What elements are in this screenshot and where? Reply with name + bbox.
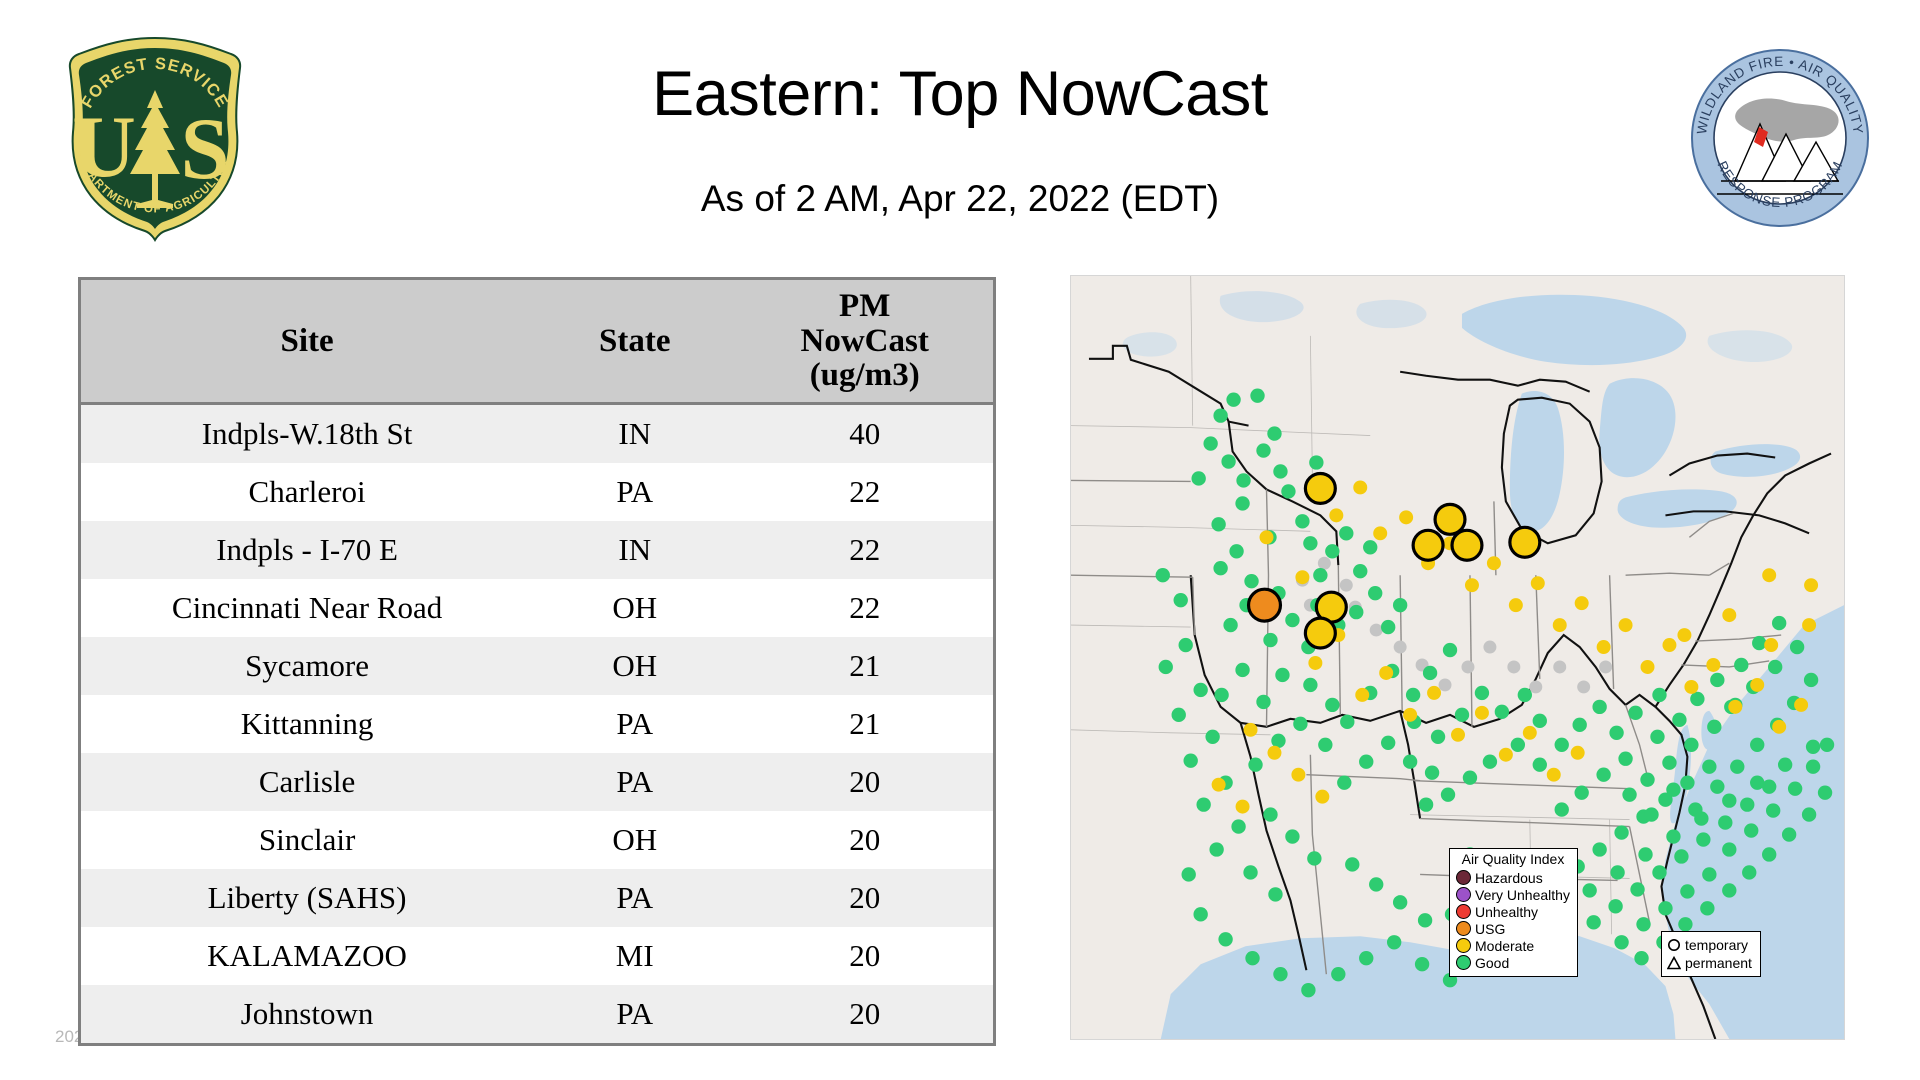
top-nowcast-marker[interactable] (1510, 527, 1540, 557)
good-monitor-dot (1184, 754, 1198, 768)
moderate-monitor-dot (1597, 640, 1611, 654)
good-monitor-dot (1455, 708, 1469, 722)
good-monitor-dot (1495, 705, 1509, 719)
good-monitor-dot (1650, 730, 1664, 744)
cell-state: PA (533, 869, 736, 927)
good-monitor-dot (1694, 811, 1708, 825)
good-monitor-dot (1301, 983, 1315, 997)
moderate-monitor-dot (1722, 608, 1736, 622)
table-row: Cincinnati Near RoadOH22 (81, 579, 993, 637)
good-monitor-dot (1752, 636, 1766, 650)
good-monitor-dot (1744, 823, 1758, 837)
moderate-monitor-dot (1308, 656, 1322, 670)
good-monitor-dot (1707, 720, 1721, 734)
good-monitor-dot (1818, 785, 1832, 799)
cell-pm-nowcast: 22 (736, 463, 993, 521)
good-monitor-dot (1678, 917, 1692, 931)
cell-state: OH (533, 811, 736, 869)
top-nowcast-marker[interactable] (1435, 504, 1465, 534)
good-monitor-dot (1582, 883, 1596, 897)
monitor-type-legend: temporary permanent (1661, 931, 1761, 977)
aqi-legend-row: USG (1456, 920, 1570, 937)
pm-header-line-1: PM (839, 288, 890, 324)
aqi-legend-row: Very Unhealthy (1456, 886, 1570, 903)
good-monitor-dot (1303, 678, 1317, 692)
cell-pm-nowcast: 20 (736, 753, 993, 811)
moderate-monitor-dot (1571, 746, 1585, 760)
wfaqrp-logo: WILDLAND FIRE • AIR QUALITY RESPONSE PRO… (1690, 48, 1870, 228)
good-monitor-dot (1762, 847, 1776, 861)
good-monitor-dot (1483, 755, 1497, 769)
good-monitor-dot (1722, 842, 1736, 856)
good-monitor-dot (1820, 738, 1834, 752)
aqi-legend-row: Moderate (1456, 937, 1570, 954)
good-monitor-dot (1441, 787, 1455, 801)
offline-monitor-dot (1461, 660, 1474, 673)
good-monitor-dot (1702, 760, 1716, 774)
good-monitor-dot (1275, 668, 1289, 682)
good-monitor-dot (1263, 633, 1277, 647)
cell-pm-nowcast: 20 (736, 927, 993, 985)
good-monitor-dot (1213, 561, 1227, 575)
good-monitor-dot (1196, 797, 1210, 811)
page-subtitle: As of 2 AM, Apr 22, 2022 (EDT) (360, 178, 1560, 220)
good-monitor-dot (1772, 616, 1786, 630)
good-monitor-dot (1425, 766, 1439, 780)
good-monitor-dot (1209, 842, 1223, 856)
aqi-swatch-icon (1456, 887, 1471, 902)
moderate-monitor-dot (1677, 628, 1691, 642)
good-monitor-dot (1263, 807, 1277, 821)
cell-state: IN (533, 404, 736, 464)
table-row: SycamoreOH21 (81, 637, 993, 695)
good-monitor-dot (1662, 756, 1676, 770)
cell-pm-nowcast: 21 (736, 637, 993, 695)
good-monitor-dot (1722, 883, 1736, 897)
good-monitor-dot (1443, 643, 1457, 657)
page-title: Eastern: Top NowCast (360, 58, 1560, 130)
good-monitor-dot (1179, 638, 1193, 652)
good-monitor-dot (1339, 526, 1353, 540)
good-monitor-dot (1368, 586, 1382, 600)
cell-site: Kittanning (81, 695, 533, 753)
good-monitor-dot (1702, 867, 1716, 881)
column-header-pm-nowcast: PM NowCast (ug/m3) (736, 280, 993, 404)
moderate-monitor-dot (1212, 778, 1226, 792)
moderate-monitor-dot (1236, 800, 1250, 814)
good-monitor-dot (1182, 867, 1196, 881)
cell-pm-nowcast: 40 (736, 404, 993, 464)
good-monitor-dot (1806, 740, 1820, 754)
moderate-monitor-dot (1260, 530, 1274, 544)
good-monitor-dot (1628, 706, 1642, 720)
top-nowcast-marker[interactable] (1249, 589, 1281, 621)
good-monitor-dot (1193, 907, 1207, 921)
good-monitor-dot (1614, 935, 1628, 949)
cell-state: OH (533, 637, 736, 695)
good-monitor-dot (1778, 758, 1792, 772)
good-monitor-dot (1406, 688, 1420, 702)
moderate-monitor-dot (1451, 728, 1465, 742)
table-row: Indpls-W.18th StIN40 (81, 404, 993, 464)
pm-header-line-2: NowCast (801, 323, 929, 359)
aqi-legend: Air Quality Index HazardousVery Unhealth… (1449, 848, 1578, 977)
moderate-monitor-dot (1329, 508, 1343, 522)
good-monitor-dot (1159, 660, 1173, 674)
good-monitor-dot (1174, 593, 1188, 607)
aqi-legend-label: Hazardous (1475, 871, 1543, 885)
good-monitor-dot (1722, 793, 1736, 807)
column-header-site: Site (81, 280, 533, 404)
good-monitor-dot (1236, 473, 1250, 487)
moderate-monitor-dot (1465, 578, 1479, 592)
good-monitor-dot (1273, 464, 1287, 478)
table-row: KALAMAZOOMI20 (81, 927, 993, 985)
cell-state: PA (533, 985, 736, 1043)
good-monitor-dot (1680, 884, 1694, 898)
good-monitor-dot (1403, 755, 1417, 769)
legend-label-temporary: temporary (1685, 938, 1748, 952)
nowcast-table: Site State PM NowCast (ug/m3) Indpls-W.1… (81, 280, 993, 1043)
good-monitor-dot (1618, 752, 1632, 766)
moderate-monitor-dot (1728, 700, 1742, 714)
cell-site: KALAMAZOO (81, 927, 533, 985)
good-monitor-dot (1295, 514, 1309, 528)
moderate-monitor-dot (1353, 480, 1367, 494)
moderate-monitor-dot (1244, 723, 1258, 737)
cell-site: Charleroi (81, 463, 533, 521)
good-monitor-dot (1640, 773, 1654, 787)
good-monitor-dot (1634, 951, 1648, 965)
good-monitor-dot (1387, 935, 1401, 949)
good-monitor-dot (1211, 517, 1225, 531)
good-monitor-dot (1393, 895, 1407, 909)
good-monitor-dot (1349, 605, 1363, 619)
cell-site: Sinclair (81, 811, 533, 869)
cell-state: PA (533, 463, 736, 521)
good-monitor-dot (1193, 683, 1207, 697)
table-row: CharleroiPA22 (81, 463, 993, 521)
good-monitor-dot (1622, 787, 1636, 801)
temporary-circle-icon (1667, 937, 1681, 953)
good-monitor-dot (1231, 819, 1245, 833)
good-monitor-dot (1475, 686, 1489, 700)
good-monitor-dot (1273, 967, 1287, 981)
good-monitor-dot (1533, 758, 1547, 772)
good-monitor-dot (1666, 782, 1680, 796)
table-row: SinclairOH20 (81, 811, 993, 869)
good-monitor-dot (1750, 775, 1764, 789)
good-monitor-dot (1742, 865, 1756, 879)
offline-monitor-dot (1553, 660, 1566, 673)
good-monitor-dot (1256, 695, 1270, 709)
good-monitor-dot (1203, 436, 1217, 450)
offline-monitor-dot (1483, 641, 1496, 654)
good-monitor-dot (1325, 544, 1339, 558)
moderate-monitor-dot (1499, 748, 1513, 762)
good-monitor-dot (1172, 708, 1186, 722)
good-monitor-dot (1573, 718, 1587, 732)
good-monitor-dot (1592, 700, 1606, 714)
moderate-monitor-dot (1750, 678, 1764, 692)
good-monitor-dot (1248, 758, 1262, 772)
good-monitor-dot (1419, 797, 1433, 811)
aqi-legend-row: Good (1456, 954, 1570, 971)
good-monitor-dot (1243, 865, 1257, 879)
usfs-letter-s: S (181, 101, 230, 198)
cell-state: MI (533, 927, 736, 985)
good-monitor-dot (1156, 568, 1170, 582)
moderate-monitor-dot (1553, 618, 1567, 632)
good-monitor-dot (1205, 730, 1219, 744)
aqi-swatch-icon (1456, 921, 1471, 936)
good-monitor-dot (1415, 957, 1429, 971)
offline-monitor-dot (1599, 660, 1612, 673)
offline-monitor-dot (1370, 624, 1383, 637)
offline-monitor-dot (1439, 678, 1452, 691)
good-monitor-dot (1614, 825, 1628, 839)
good-monitor-dot (1630, 882, 1644, 896)
cell-state: IN (533, 521, 736, 579)
good-monitor-dot (1463, 771, 1477, 785)
moderate-monitor-dot (1399, 510, 1413, 524)
offline-monitor-dot (1394, 641, 1407, 654)
nowcast-table-container: Site State PM NowCast (ug/m3) Indpls-W.1… (78, 277, 996, 1046)
good-monitor-dot (1307, 851, 1321, 865)
good-monitor-dot (1652, 865, 1666, 879)
good-monitor-dot (1644, 807, 1658, 821)
moderate-monitor-dot (1403, 708, 1417, 722)
good-monitor-dot (1690, 692, 1704, 706)
good-monitor-dot (1652, 688, 1666, 702)
good-monitor-dot (1730, 760, 1744, 774)
good-monitor-dot (1359, 755, 1373, 769)
cell-site: Johnstown (81, 985, 533, 1043)
good-monitor-dot (1574, 785, 1588, 799)
good-monitor-dot (1235, 496, 1249, 510)
column-header-state: State (533, 280, 736, 404)
cell-site: Cincinnati Near Road (81, 579, 533, 637)
moderate-monitor-dot (1379, 666, 1393, 680)
good-monitor-dot (1313, 568, 1327, 582)
good-monitor-dot (1610, 865, 1624, 879)
moderate-monitor-dot (1427, 686, 1441, 700)
aqi-legend-row: Hazardous (1456, 869, 1570, 886)
aqi-swatch-icon (1456, 904, 1471, 919)
legend-row-permanent: permanent (1667, 954, 1752, 972)
moderate-monitor-dot (1641, 660, 1655, 674)
good-monitor-dot (1363, 540, 1377, 554)
top-nowcast-marker[interactable] (1452, 530, 1482, 560)
good-monitor-dot (1672, 713, 1686, 727)
good-monitor-dot (1191, 471, 1205, 485)
usfs-shield-logo: FOREST SERVICE DEPARTMENT OF AGRICULTURE… (55, 28, 255, 243)
good-monitor-dot (1229, 544, 1243, 558)
cell-state: PA (533, 753, 736, 811)
good-monitor-dot (1221, 454, 1235, 468)
good-monitor-dot (1418, 913, 1432, 927)
good-monitor-dot (1700, 901, 1714, 915)
good-monitor-dot (1353, 564, 1367, 578)
moderate-monitor-dot (1315, 790, 1329, 804)
aqi-legend-label: USG (1475, 922, 1505, 936)
moderate-monitor-dot (1802, 618, 1816, 632)
moderate-monitor-dot (1547, 768, 1561, 782)
top-nowcast-marker[interactable] (1305, 473, 1335, 503)
good-monitor-dot (1684, 738, 1698, 752)
offline-monitor-dot (1318, 557, 1331, 570)
good-monitor-dot (1680, 775, 1694, 789)
good-monitor-dot (1782, 827, 1796, 841)
air-quality-map[interactable]: Air Quality Index HazardousVery Unhealth… (1070, 275, 1845, 1040)
good-monitor-dot (1285, 613, 1299, 627)
moderate-monitor-dot (1804, 578, 1818, 592)
good-monitor-dot (1740, 797, 1754, 811)
offline-monitor-dot (1529, 680, 1542, 693)
usfs-letter-u: U (72, 99, 136, 196)
moderate-monitor-dot (1487, 556, 1501, 570)
good-monitor-dot (1268, 887, 1282, 901)
good-monitor-dot (1592, 842, 1606, 856)
good-monitor-dot (1806, 760, 1820, 774)
good-monitor-dot (1340, 715, 1354, 729)
good-monitor-dot (1710, 673, 1724, 687)
good-monitor-dot (1325, 698, 1339, 712)
moderate-monitor-dot (1475, 706, 1489, 720)
cell-pm-nowcast: 20 (736, 811, 993, 869)
moderate-monitor-dot (1684, 680, 1698, 694)
moderate-monitor-dot (1523, 726, 1537, 740)
good-monitor-dot (1609, 726, 1623, 740)
good-monitor-dot (1256, 443, 1270, 457)
table-body: Indpls-W.18th StIN40CharleroiPA22Indpls … (81, 404, 993, 1044)
good-monitor-dot (1244, 574, 1258, 588)
good-monitor-dot (1674, 849, 1688, 863)
good-monitor-dot (1555, 802, 1569, 816)
offline-monitor-dot (1340, 579, 1353, 592)
aqi-legend-row: Unhealthy (1456, 903, 1570, 920)
table-row: CarlislePA20 (81, 753, 993, 811)
good-monitor-dot (1790, 640, 1804, 654)
good-monitor-dot (1281, 484, 1295, 498)
top-nowcast-marker[interactable] (1305, 618, 1335, 648)
good-monitor-dot (1369, 877, 1383, 891)
cell-site: Indpls-W.18th St (81, 404, 533, 464)
good-monitor-dot (1293, 717, 1307, 731)
good-monitor-dot (1734, 658, 1748, 672)
moderate-monitor-dot (1706, 658, 1720, 672)
good-monitor-dot (1710, 779, 1724, 793)
moderate-monitor-dot (1291, 768, 1305, 782)
cell-pm-nowcast: 20 (736, 869, 993, 927)
good-monitor-dot (1431, 730, 1445, 744)
cell-pm-nowcast: 22 (736, 521, 993, 579)
cell-site: Liberty (SAHS) (81, 869, 533, 927)
aqi-legend-label: Good (1475, 956, 1509, 970)
moderate-monitor-dot (1355, 688, 1369, 702)
table-row: KittanningPA21 (81, 695, 993, 753)
table-row: JohnstownPA20 (81, 985, 993, 1043)
legend-label-permanent: permanent (1685, 956, 1752, 970)
offline-monitor-dot (1577, 680, 1590, 693)
pm-header-line-3: (ug/m3) (810, 357, 920, 393)
good-monitor-dot (1235, 663, 1249, 677)
good-monitor-dot (1596, 768, 1610, 782)
moderate-monitor-dot (1267, 746, 1281, 760)
table-row: Indpls - I-70 EIN22 (81, 521, 993, 579)
good-monitor-dot (1518, 688, 1532, 702)
aqi-legend-label: Moderate (1475, 939, 1534, 953)
good-monitor-dot (1267, 426, 1281, 440)
good-monitor-dot (1638, 847, 1652, 861)
cell-state: OH (533, 579, 736, 637)
good-monitor-dot (1271, 734, 1285, 748)
aqi-legend-title: Air Quality Index (1456, 852, 1570, 866)
cell-site: Indpls - I-70 E (81, 521, 533, 579)
good-monitor-dot (1226, 392, 1240, 406)
good-monitor-dot (1359, 951, 1373, 965)
good-monitor-dot (1214, 688, 1228, 702)
cell-pm-nowcast: 21 (736, 695, 993, 753)
good-monitor-dot (1750, 738, 1764, 752)
cell-state: PA (533, 695, 736, 753)
good-monitor-dot (1331, 967, 1345, 981)
good-monitor-dot (1666, 829, 1680, 843)
good-monitor-dot (1658, 901, 1672, 915)
good-monitor-dot (1555, 738, 1569, 752)
good-monitor-dot (1608, 899, 1622, 913)
good-monitor-dot (1511, 738, 1525, 752)
good-monitor-dot (1381, 620, 1395, 634)
aqi-legend-label: Very Unhealthy (1475, 888, 1570, 902)
table-row: Liberty (SAHS)PA20 (81, 869, 993, 927)
moderate-monitor-dot (1575, 596, 1589, 610)
good-monitor-dot (1766, 803, 1780, 817)
legend-row-temporary: temporary (1667, 936, 1752, 954)
permanent-triangle-icon (1667, 955, 1681, 971)
good-monitor-dot (1696, 832, 1710, 846)
good-monitor-dot (1337, 775, 1351, 789)
good-monitor-dot (1250, 388, 1264, 402)
good-monitor-dot (1393, 598, 1407, 612)
cell-site: Sycamore (81, 637, 533, 695)
good-monitor-dot (1303, 536, 1317, 550)
good-monitor-dot (1218, 932, 1232, 946)
moderate-monitor-dot (1662, 638, 1676, 652)
top-nowcast-marker[interactable] (1413, 530, 1443, 560)
good-monitor-dot (1309, 455, 1323, 469)
good-monitor-dot (1768, 660, 1782, 674)
moderate-monitor-dot (1373, 526, 1387, 540)
aqi-swatch-icon (1456, 870, 1471, 885)
aqi-legend-label: Unhealthy (1475, 905, 1538, 919)
good-monitor-dot (1804, 673, 1818, 687)
moderate-monitor-dot (1762, 568, 1776, 582)
aqi-swatch-icon (1456, 938, 1471, 953)
cell-pm-nowcast: 20 (736, 985, 993, 1043)
cell-site: Carlisle (81, 753, 533, 811)
good-monitor-dot (1245, 951, 1259, 965)
cell-pm-nowcast: 22 (736, 579, 993, 637)
good-monitor-dot (1423, 666, 1437, 680)
moderate-monitor-dot (1509, 598, 1523, 612)
good-monitor-dot (1285, 829, 1299, 843)
good-monitor-dot (1223, 618, 1237, 632)
good-monitor-dot (1802, 807, 1816, 821)
moderate-monitor-dot (1295, 570, 1309, 584)
good-monitor-dot (1586, 915, 1600, 929)
good-monitor-dot (1533, 714, 1547, 728)
